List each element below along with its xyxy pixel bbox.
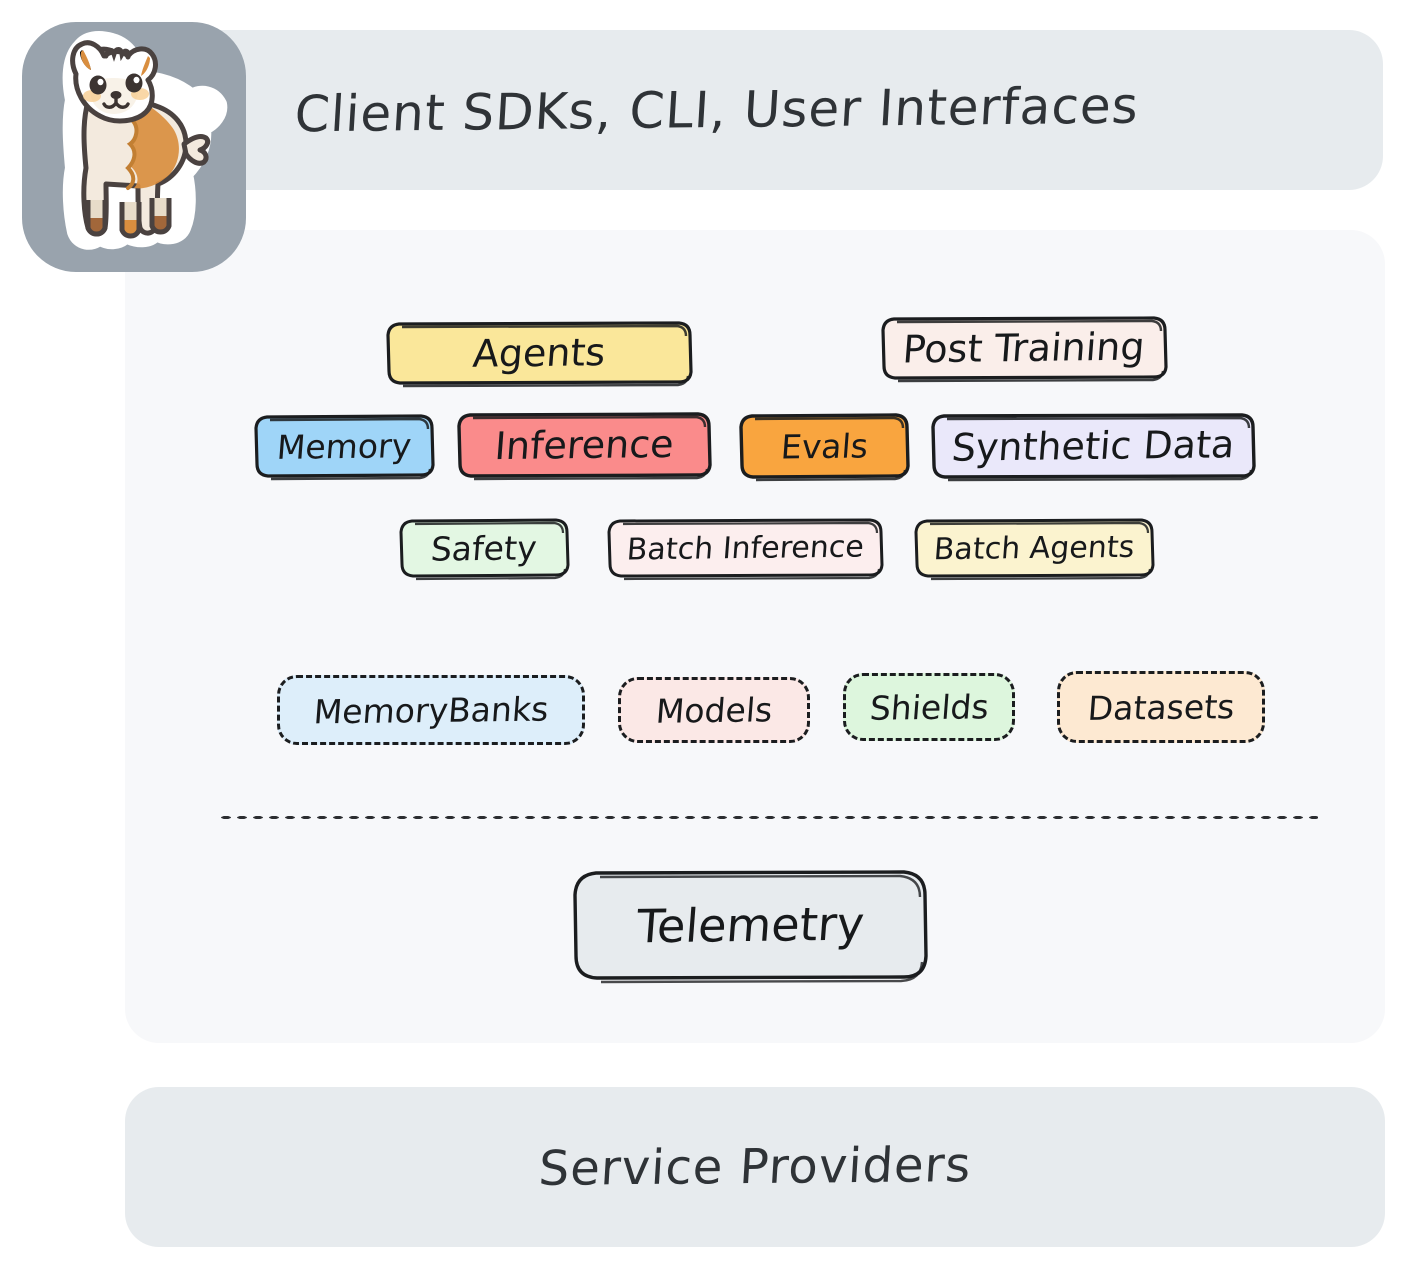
client-layer-banner: Client SDKs, CLI, User Interfaces [150, 30, 1383, 190]
resource-box-datasets[interactable]: Datasets [1057, 671, 1265, 743]
telemetry-box[interactable]: Telemetry [570, 868, 930, 982]
api-box-label: Safety [430, 528, 539, 568]
resource-box-shields[interactable]: Shields [843, 673, 1015, 741]
resource-box-label: Shields [868, 687, 990, 727]
resource-box-label: Models [654, 690, 773, 730]
api-box-label: Batch Inference [625, 529, 865, 567]
telemetry-label: Telemetry [634, 897, 865, 954]
api-box-post-training[interactable]: Post Training [880, 315, 1168, 381]
api-box-label: Batch Agents [932, 529, 1135, 566]
service-providers-banner: Service Providers [125, 1087, 1385, 1247]
client-layer-title: Client SDKs, CLI, User Interfaces [293, 77, 1141, 144]
api-box-memory[interactable]: Memory [253, 413, 435, 479]
api-box-label: Inference [493, 422, 675, 468]
llama-logo-icon [28, 28, 228, 254]
api-box-label: Post Training [901, 325, 1146, 372]
api-box-label: Agents [471, 330, 607, 376]
api-box-batch-agents[interactable]: Batch Agents [913, 517, 1155, 579]
api-box-label: Memory [275, 426, 412, 467]
api-box-agents[interactable]: Agents [385, 320, 693, 386]
service-providers-title: Service Providers [537, 1137, 973, 1197]
dotted-divider [218, 815, 1318, 820]
api-box-evals[interactable]: Evals [738, 412, 910, 480]
api-box-label: Evals [779, 426, 869, 466]
resource-box-label: MemoryBanks [312, 689, 549, 731]
resource-box-models[interactable]: Models [618, 677, 810, 743]
api-box-safety[interactable]: Safety [398, 517, 570, 579]
api-box-inference[interactable]: Inference [456, 411, 712, 479]
resource-box-label: Datasets [1086, 687, 1236, 728]
api-box-label: Synthetic Data [950, 422, 1236, 469]
api-box-batch-inference[interactable]: Batch Inference [606, 517, 884, 579]
api-box-synthetic-data[interactable]: Synthetic Data [930, 412, 1256, 480]
resource-box-memorybanks[interactable]: MemoryBanks [277, 675, 585, 745]
